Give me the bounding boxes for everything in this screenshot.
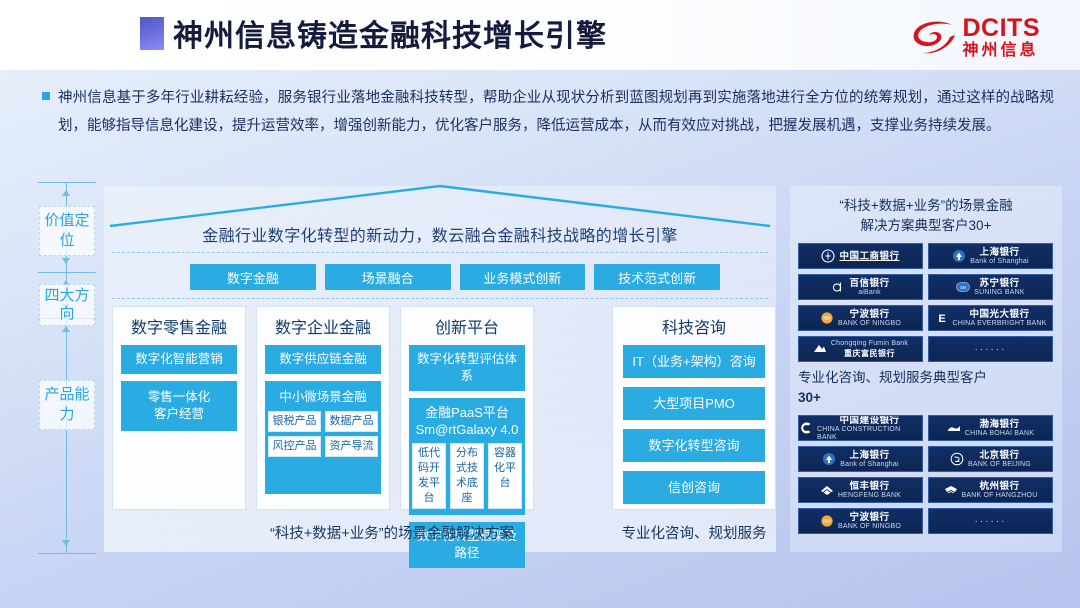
- subtag-risk-control-product[interactable]: 风控产品: [268, 436, 321, 457]
- column-tech-consulting: 科技咨询 IT（业务+架构）咨询 大型项目PMO 数字化转型咨询 信创咨询: [612, 306, 776, 510]
- box-xinchuang-consulting[interactable]: 信创咨询: [623, 471, 765, 504]
- box-retail-integrated-customer-ops[interactable]: 零售一体化 客户经营: [121, 381, 237, 431]
- column-3-title: 创新平台: [409, 314, 525, 338]
- col4-box1-label: IT（业务+架构）咨询: [632, 354, 755, 369]
- bank-name-0-4: 苏宁银行: [979, 278, 1019, 289]
- bank-name-0-7: 重庆富民银行: [844, 348, 895, 359]
- bank-logo-ccb: 中国建设银行 CHINA CONSTRUCTION BANK: [798, 415, 923, 441]
- bank-en-1-6: BANK OF HANGZHOU: [962, 492, 1038, 500]
- col2-tag2-label: 数据产品: [330, 415, 374, 427]
- divider-dashed-2: [112, 298, 768, 299]
- hengfeng-bank-icon: [820, 483, 834, 497]
- bank-name-1-1: 中国建设银行: [839, 415, 899, 426]
- bank-en-1-4: BANK OF BEIJING: [968, 461, 1031, 469]
- rail-arrow-up-3: [62, 326, 70, 332]
- suning-bank-icon: SN: [956, 280, 970, 294]
- bank-logo-more-1: ······: [928, 336, 1053, 362]
- bank-logo-bank-of-beijing: 北京银行 BANK OF BEIJING: [928, 446, 1053, 472]
- customer-logo-grid-2: 中国建设银行 CHINA CONSTRUCTION BANK 渤海银行 CHIN…: [798, 415, 1054, 534]
- customers-heading-1-line2: 解决方案典型客户30+: [798, 216, 1054, 236]
- rail-label-value-position: 价值定位: [39, 206, 95, 256]
- svg-text:E: E: [938, 313, 945, 325]
- caption-scenario-finance-solution: “科技+数据+业务”的场景金融解决方案: [112, 522, 672, 543]
- bank-name-1-6: 杭州银行: [979, 481, 1019, 492]
- bank-logo-suning-bank: SN 苏宁银行 SUNING BANK: [928, 274, 1053, 300]
- col4-box4-label: 信创咨询: [668, 480, 720, 495]
- bank-logo-fumin-bank: Chongqing Fumin Bank 重庆富民银行: [798, 336, 923, 362]
- rail-arrow-down-1: [62, 258, 70, 264]
- box-digital-transformation-consulting[interactable]: 数字化转型咨询: [623, 429, 765, 462]
- svg-text:SN: SN: [960, 285, 966, 290]
- rail-cap-bottom: [38, 553, 96, 554]
- bank-en-0-3: aiBank: [858, 289, 881, 297]
- bank-logo-everbright-bank: E 中国光大银行 CHINA EVERBRIGHT BANK: [928, 305, 1053, 331]
- dcits-swirl-icon: [911, 19, 957, 57]
- ellipsis-icon: ······: [975, 344, 1007, 355]
- box-digital-supply-chain-finance[interactable]: 数字供应链金融: [265, 345, 381, 374]
- customers-panel: “科技+数据+业务”的场景金融 解决方案典型客户30+ 中国工商银行 上海银行 …: [790, 186, 1062, 552]
- bank-logo-hengfeng-bank: 恒丰银行 HENGFENG BANK: [798, 477, 923, 503]
- page-title-text: 神州信息铸造金融科技增长引擎: [173, 11, 607, 55]
- bank-of-ningbo-icon: [820, 514, 834, 528]
- col2-subtag-grid: 银税产品 数据产品 风控产品 资产导流: [268, 411, 378, 457]
- bank-name-0-3: 百信银行: [849, 278, 889, 289]
- intro-paragraph: 神州信息基于多年行业耕耘经验，服务银行业落地金融科技转型，帮助企业从现状分析到蓝…: [42, 84, 1054, 140]
- bank-en-1-1: CHINA CONSTRUCTION BANK: [817, 426, 922, 442]
- rail-arrow-down-3: [62, 540, 70, 546]
- bank-of-ningbo-icon: [820, 311, 834, 325]
- pill-0-label: 数字金融: [227, 268, 279, 287]
- pill-tech-paradigm-innovation[interactable]: 技术范式创新: [594, 264, 720, 290]
- rail-label-1-text: 四大方向: [44, 287, 89, 322]
- subtag-container-platform[interactable]: 容器化平台: [488, 443, 522, 509]
- col3-tag3-label: 容器化平台: [494, 447, 516, 489]
- customers-heading-2: 专业化咨询、规划服务典型客户 30+: [798, 368, 1054, 408]
- left-rail: 价值定位 四大方向 产品能力: [34, 182, 100, 554]
- bank-of-hangzhou-icon: [944, 483, 958, 497]
- bank-name-0-5: 宁波银行: [849, 309, 889, 320]
- subtag-data-product[interactable]: 数据产品: [325, 411, 378, 432]
- box-msme-scenario-finance[interactable]: 中小微场景金融 银税产品 数据产品 风控产品 资产导流: [265, 381, 381, 494]
- pill-3-label: 技术范式创新: [618, 268, 696, 287]
- ellipsis-icon: ······: [975, 516, 1007, 527]
- bank-of-shanghai-icon: [952, 249, 966, 263]
- company-logo: DCITS 神州信息: [911, 16, 1041, 59]
- bank-name-0-6: 中国光大银行: [969, 309, 1029, 320]
- box-digital-transformation-assessment[interactable]: 数字化转型评估体系: [409, 345, 525, 391]
- col1-box2-line1: 零售一体化: [125, 389, 233, 406]
- bank-en-0-7: Chongqing Fumin Bank: [831, 340, 908, 348]
- bank-name-1-7: 宁波银行: [849, 512, 889, 523]
- column-4-title: 科技咨询: [623, 314, 765, 338]
- col3-tag1-label: 低代码开发平台: [418, 447, 440, 504]
- bank-en-0-2: Bank of Shanghai: [970, 258, 1028, 266]
- four-directions-pill-row: 数字金融 场景融合 业务模式创新 技术范式创新: [190, 264, 720, 290]
- bank-en-0-5: BANK OF NINGBO: [838, 320, 901, 328]
- page-header: 神州信息铸造金融科技增长引擎 DCITS 神州信息: [0, 0, 1080, 70]
- icbc-icon: [821, 249, 835, 263]
- subtag-distributed-tech-base[interactable]: 分布式技术底座: [450, 443, 484, 509]
- col3-box2-line2: Sm@rtGalaxy 4.0: [412, 421, 522, 438]
- bank-name-0-2: 上海银行: [979, 247, 1019, 258]
- caption-consulting-planning-service: 专业化咨询、规划服务: [612, 522, 776, 543]
- divider-dashed-1: [112, 252, 768, 253]
- col4-box2-label: 大型项目PMO: [653, 396, 735, 411]
- col2-tag4-label: 资产导流: [330, 440, 374, 452]
- logo-text-en: DCITS: [963, 16, 1041, 41]
- col2-tag3-label: 风控产品: [273, 440, 317, 452]
- bank-name-1-2: 渤海银行: [979, 419, 1019, 430]
- rail-arrow-up-1: [62, 190, 70, 196]
- bank-logo-bank-of-hangzhou: 杭州银行 BANK OF HANGZHOU: [928, 477, 1053, 503]
- rail-cap-1: [38, 272, 96, 273]
- bank-logo-bank-of-shanghai-2: 上海银行 Bank of Shanghai: [798, 446, 923, 472]
- box-large-project-pmo[interactable]: 大型项目PMO: [623, 387, 765, 420]
- bank-name-1-5: 恒丰银行: [849, 481, 889, 492]
- col3-box1-label: 数字化转型评估体系: [417, 352, 517, 383]
- fumin-bank-icon: [813, 342, 827, 356]
- subtag-lowcode-dev-platform[interactable]: 低代码开发平台: [412, 443, 446, 509]
- pill-business-model-innovation[interactable]: 业务模式创新: [460, 264, 586, 290]
- bank-en-1-5: HENGFENG BANK: [838, 492, 901, 500]
- customer-logo-grid-1: 中国工商银行 上海银行 Bank of Shanghai 百信银行 aiBank…: [798, 243, 1054, 362]
- col2-tag1-label: 银税产品: [273, 415, 317, 427]
- col3-tag2-label: 分布式技术底座: [456, 447, 478, 504]
- bank-name-0-1: 中国工商银行: [839, 251, 899, 262]
- bank-name-1-3: 上海银行: [849, 450, 889, 461]
- pill-digital-finance[interactable]: 数字金融: [190, 264, 316, 290]
- bank-logo-more-2: ······: [928, 508, 1053, 534]
- box-financial-paas-platform[interactable]: 金融PaaS平台 Sm@rtGalaxy 4.0 低代码开发平台 分布式技术底座…: [409, 398, 525, 515]
- bank-of-beijing-icon: [950, 452, 964, 466]
- customers-heading-1-line1: “科技+数据+业务”的场景金融: [798, 196, 1054, 216]
- title-accent-block: [140, 17, 164, 50]
- pill-scenario-integration[interactable]: 场景融合: [325, 264, 451, 290]
- subtag-asset-routing[interactable]: 资产导流: [325, 436, 378, 457]
- bank-en-0-4: SUNING BANK: [974, 289, 1024, 297]
- bohai-bank-icon: [947, 421, 961, 435]
- bank-logo-bohai-bank: 渤海银行 CHINA BOHAI BANK: [928, 415, 1053, 441]
- box-digital-smart-marketing[interactable]: 数字化智能营销: [121, 345, 237, 374]
- column-digital-enterprise-finance: 数字企业金融 数字供应链金融 中小微场景金融 银税产品 数据产品 风控产品 资产…: [256, 306, 390, 510]
- customers-heading-2-line2: 30+: [798, 388, 1054, 408]
- column-1-title: 数字零售金融: [121, 314, 237, 338]
- bank-logo-bank-of-ningbo-2: 宁波银行 BANK OF NINGBO: [798, 508, 923, 534]
- rail-label-0-text: 价值定位: [44, 212, 89, 249]
- customers-heading-2-line1: 专业化咨询、规划服务典型客户: [798, 368, 1054, 388]
- ccb-icon: [799, 421, 813, 435]
- bank-en-1-3: Bank of Shanghai: [840, 461, 898, 469]
- col2-box2-label: 中小微场景金融: [268, 389, 378, 406]
- capability-columns: 数字零售金融 数字化智能营销 零售一体化 客户经营 数字企业金融 数字供应链金融…: [112, 306, 672, 510]
- rail-label-four-directions: 四大方向: [39, 284, 95, 326]
- bullet-square-icon: [42, 92, 50, 100]
- everbright-bank-icon: E: [935, 311, 949, 325]
- subtag-tax-bank-product[interactable]: 银税产品: [268, 411, 321, 432]
- pill-2-label: 业务模式创新: [483, 268, 561, 287]
- col1-box1-label: 数字化智能营销: [135, 352, 223, 366]
- logo-text-cn: 神州信息: [963, 43, 1041, 59]
- bank-logo-bank-of-ningbo: 宁波银行 BANK OF NINGBO: [798, 305, 923, 331]
- bank-of-shanghai-icon: [822, 452, 836, 466]
- column-digital-retail-finance: 数字零售金融 数字化智能营销 零售一体化 客户经营: [112, 306, 246, 510]
- bank-logo-aibank: 百信银行 aiBank: [798, 274, 923, 300]
- column-innovation-platform: 创新平台 数字化转型评估体系 金融PaaS平台 Sm@rtGalaxy 4.0 …: [400, 306, 534, 510]
- col1-box2-line2: 客户经营: [125, 406, 233, 423]
- rail-cap-top: [38, 182, 96, 183]
- rail-label-product-capability: 产品能力: [39, 380, 95, 430]
- aibank-icon: [831, 280, 845, 294]
- bank-logo-bank-of-shanghai: 上海银行 Bank of Shanghai: [928, 243, 1053, 269]
- col3-box2-line1: 金融PaaS平台: [412, 404, 522, 421]
- main-headline: 金融行业数字化转型的新动力，数云融合金融科技战略的增长引擎: [104, 222, 776, 246]
- bank-name-1-4: 北京银行: [979, 450, 1019, 461]
- page-title: 神州信息铸造金融科技增长引擎: [140, 11, 607, 55]
- bank-en-1-7: BANK OF NINGBO: [838, 523, 901, 531]
- rail-label-2-text: 产品能力: [44, 386, 89, 423]
- pill-1-label: 场景融合: [362, 268, 414, 287]
- customers-heading-1: “科技+数据+业务”的场景金融 解决方案典型客户30+: [798, 196, 1054, 236]
- intro-text: 神州信息基于多年行业耕耘经验，服务银行业落地金融科技转型，帮助企业从现状分析到蓝…: [58, 84, 1054, 140]
- bank-en-0-6: CHINA EVERBRIGHT BANK: [953, 320, 1047, 328]
- col2-box1-label: 数字供应链金融: [279, 352, 367, 366]
- bank-en-1-2: CHINA BOHAI BANK: [965, 430, 1034, 438]
- box-it-consulting[interactable]: IT（业务+架构）咨询: [623, 345, 765, 378]
- column-2-title: 数字企业金融: [265, 314, 381, 338]
- bank-logo-icbc: 中国工商银行: [798, 243, 923, 269]
- col3-subtag-grid: 低代码开发平台 分布式技术底座 容器化平台: [412, 443, 522, 509]
- col4-box3-label: 数字化转型咨询: [648, 438, 739, 453]
